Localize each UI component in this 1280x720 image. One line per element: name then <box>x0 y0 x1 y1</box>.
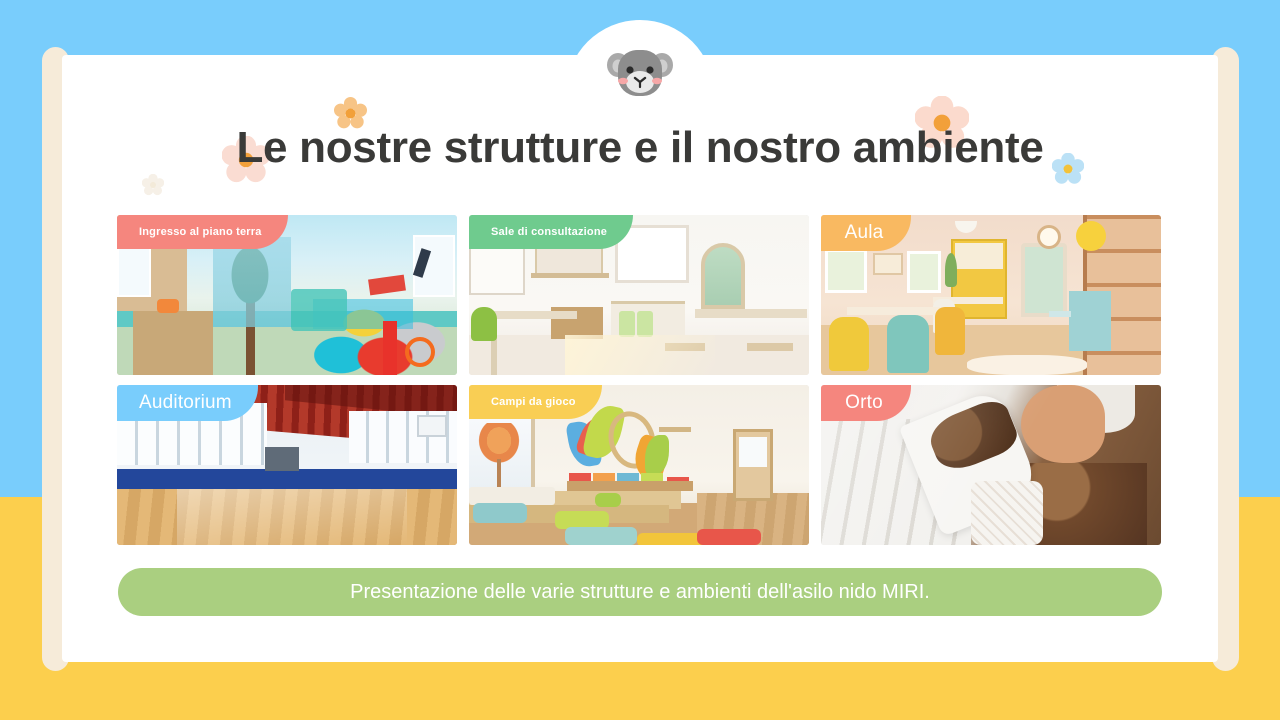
facilities-gallery: Ingresso al piano terra Sale di consulta… <box>117 215 1162 545</box>
gallery-card-ingresso[interactable]: Ingresso al piano terra <box>117 215 457 375</box>
gallery-card-auditorium[interactable]: Auditorium <box>117 385 457 545</box>
page-title: Le nostre strutture e il nostro ambiente <box>0 123 1280 173</box>
gallery-card-sale[interactable]: Sale di consultazione <box>469 215 809 375</box>
caption-bar: Presentazione delle varie strutture e am… <box>118 568 1162 616</box>
card-badge-sale: Sale di consultazione <box>469 215 633 249</box>
bear-face-icon <box>604 44 676 100</box>
card-badge-auditorium: Auditorium <box>117 385 258 421</box>
caption-text: Presentazione delle varie strutture e am… <box>350 581 930 604</box>
gallery-card-campi[interactable]: Campi da gioco <box>469 385 809 545</box>
card-badge-campi: Campi da gioco <box>469 385 602 419</box>
card-badge-ingresso: Ingresso al piano terra <box>117 215 288 249</box>
gallery-card-orto[interactable]: Orto <box>821 385 1161 545</box>
flower-faint-left-icon <box>142 174 164 196</box>
gallery-card-aula[interactable]: Aula <box>821 215 1161 375</box>
